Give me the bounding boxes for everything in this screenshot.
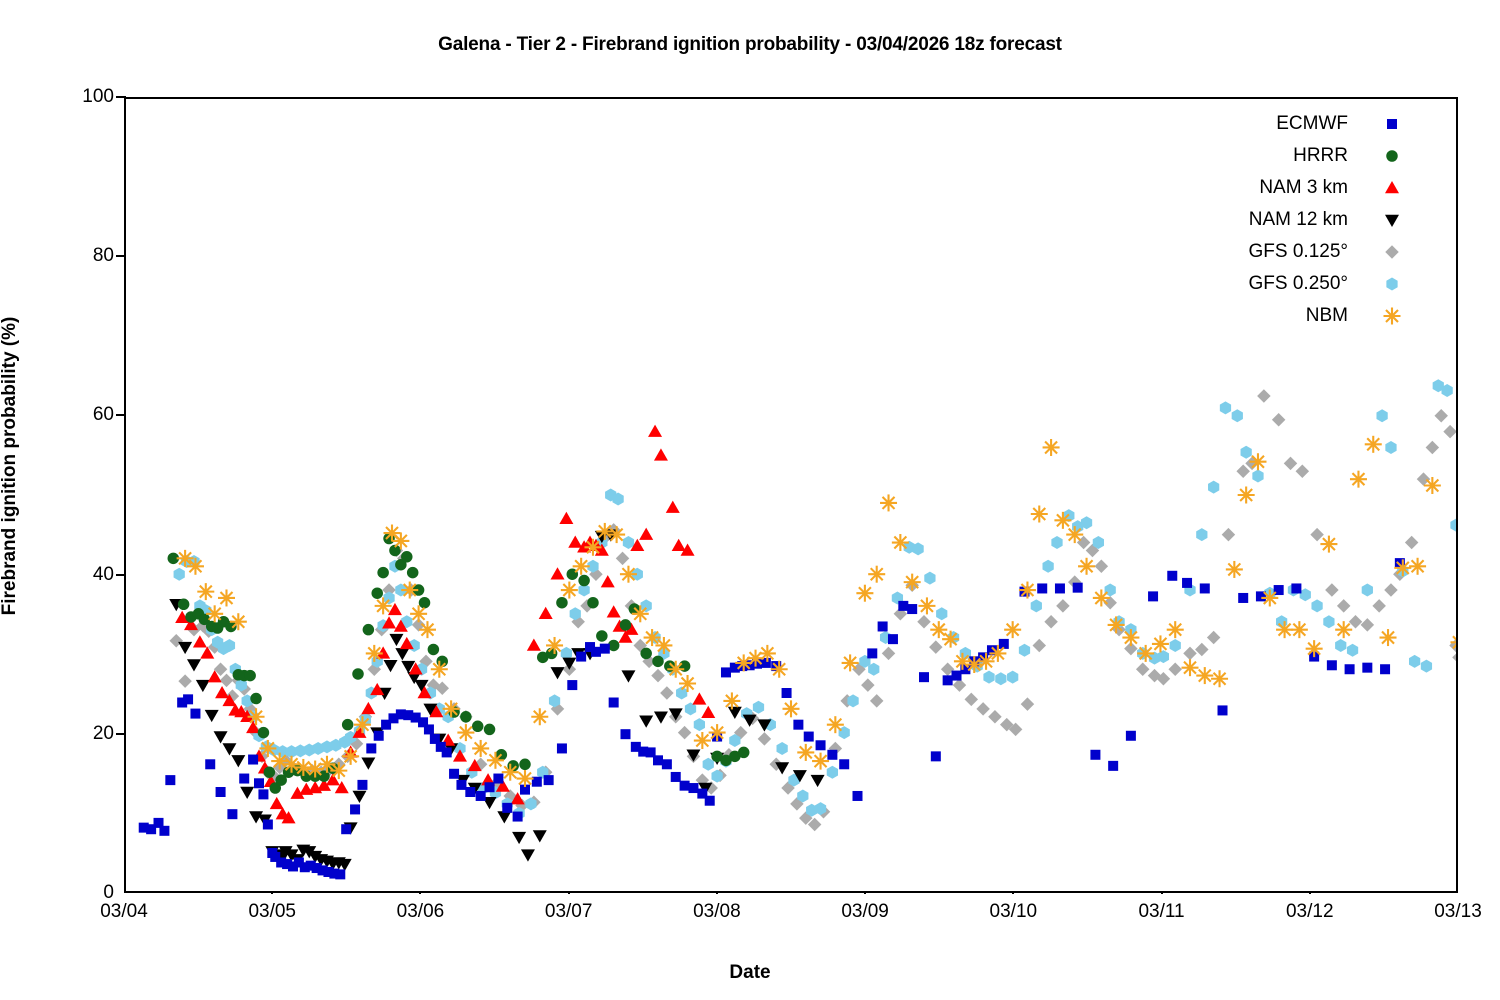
data-point	[196, 680, 210, 692]
data-point	[449, 769, 459, 779]
data-point	[551, 667, 565, 679]
data-point	[1362, 584, 1373, 597]
legend-item-gfs-0-250[interactable]: GFS 0.250°	[1180, 268, 1402, 300]
data-point	[472, 740, 489, 757]
data-point	[1095, 560, 1109, 574]
data-point	[1291, 621, 1308, 638]
data-point	[1257, 389, 1271, 403]
orange-asterisk-marker-icon	[1382, 306, 1402, 326]
data-point	[1108, 761, 1118, 771]
data-point	[936, 607, 947, 620]
data-point	[258, 789, 268, 799]
data-point	[667, 661, 684, 678]
data-point	[584, 539, 601, 556]
data-point	[1376, 409, 1387, 422]
data-point	[995, 672, 1006, 685]
data-point	[544, 775, 554, 785]
data-point	[407, 567, 419, 579]
data-point	[607, 605, 621, 617]
legend-item-nbm[interactable]: NBM	[1180, 300, 1402, 332]
data-point	[1043, 439, 1060, 456]
data-point	[377, 567, 389, 579]
data-point	[652, 656, 664, 668]
data-point	[546, 637, 563, 654]
legend-label: NBM	[1306, 305, 1382, 327]
data-point	[1350, 471, 1367, 488]
data-point	[330, 762, 347, 779]
data-point	[639, 528, 653, 540]
data-point	[374, 731, 384, 741]
data-point	[1452, 651, 1456, 665]
data-point	[502, 803, 512, 813]
data-point	[354, 716, 371, 733]
data-point	[1090, 750, 1100, 760]
data-point	[793, 720, 803, 730]
data-point	[1424, 477, 1441, 494]
data-point	[1361, 618, 1375, 632]
data-point	[1170, 639, 1181, 652]
data-point	[1241, 446, 1252, 459]
x-tick-label-03-12: 03/12	[1250, 901, 1370, 923]
data-point	[350, 804, 360, 814]
data-point	[1220, 401, 1231, 414]
x-axis-label: Date	[0, 962, 1500, 984]
data-point	[1168, 662, 1182, 676]
data-point	[214, 731, 228, 743]
data-point	[1211, 670, 1228, 687]
data-point	[701, 706, 715, 718]
data-point	[1031, 599, 1042, 612]
data-point	[205, 759, 215, 769]
data-point	[174, 568, 185, 581]
data-point	[672, 539, 686, 551]
data-point	[1051, 536, 1062, 549]
data-point	[1296, 464, 1310, 478]
data-point	[1337, 599, 1351, 613]
data-point	[271, 753, 288, 770]
data-point	[1222, 528, 1236, 542]
data-point	[1136, 662, 1150, 676]
data-point	[688, 783, 698, 793]
data-point	[424, 724, 434, 734]
data-point	[1196, 667, 1213, 684]
data-point	[1073, 583, 1083, 593]
data-point	[966, 656, 983, 673]
data-point	[384, 660, 398, 672]
data-point	[1152, 635, 1169, 652]
chart-page: Galena - Tier 2 - Firebrand ignition pro…	[0, 0, 1500, 1000]
data-point	[839, 759, 849, 769]
x-tick-label-03-08: 03/08	[657, 901, 777, 923]
data-point	[771, 661, 788, 678]
data-point	[655, 637, 672, 654]
x-tick-label-03-05: 03/05	[212, 901, 332, 923]
data-point	[930, 621, 947, 638]
data-point	[1385, 441, 1396, 454]
data-point	[1232, 409, 1243, 422]
data-point	[827, 716, 844, 733]
data-point	[1021, 697, 1035, 711]
data-point	[361, 702, 375, 714]
data-point	[539, 607, 553, 619]
data-point	[1261, 589, 1278, 606]
data-point	[1252, 469, 1263, 482]
data-point	[978, 653, 995, 670]
data-point	[556, 597, 568, 609]
data-point	[632, 605, 649, 622]
data-point	[295, 759, 312, 776]
data-point	[1019, 644, 1030, 657]
data-point	[187, 659, 201, 671]
data-point	[880, 494, 897, 511]
data-point	[1208, 481, 1219, 494]
data-point	[804, 732, 814, 742]
data-point	[1043, 560, 1054, 573]
data-point	[639, 715, 653, 727]
series-nbm	[177, 436, 1456, 787]
data-point	[227, 809, 237, 819]
data-point	[1362, 663, 1372, 673]
data-point	[465, 787, 475, 797]
data-point	[388, 603, 402, 615]
data-point	[1078, 558, 1095, 575]
x-tick-label-03-07: 03/07	[509, 901, 629, 923]
data-point	[342, 748, 359, 765]
data-point	[870, 694, 884, 708]
data-point	[573, 558, 590, 575]
data-point	[1108, 616, 1125, 633]
lightblue-hexagon-marker-icon	[1382, 274, 1402, 294]
data-point	[1380, 664, 1390, 674]
legend-label: GFS 0.125°	[1249, 241, 1382, 263]
y-tick-label-20: 20	[34, 723, 114, 745]
data-point	[1019, 582, 1036, 599]
data-point	[239, 774, 249, 784]
data-point	[1434, 409, 1448, 423]
data-point	[1284, 457, 1298, 471]
data-point	[244, 670, 256, 682]
data-point	[620, 729, 630, 739]
data-point	[197, 583, 214, 600]
data-point	[519, 759, 531, 771]
data-point	[943, 675, 953, 685]
data-point	[759, 645, 776, 662]
data-point	[907, 604, 917, 614]
x-tick-label-03-04: 03/04	[64, 901, 184, 923]
data-point	[924, 572, 935, 585]
data-point	[1167, 571, 1177, 581]
data-point	[551, 567, 565, 579]
data-point	[654, 712, 668, 724]
y-tick-label-40: 40	[34, 564, 114, 586]
data-point	[1148, 591, 1158, 601]
data-point	[640, 648, 652, 660]
data-point	[431, 661, 448, 678]
data-point	[917, 615, 931, 629]
data-point	[401, 551, 413, 563]
data-point	[976, 702, 990, 716]
data-point	[460, 711, 472, 723]
data-point	[254, 778, 264, 788]
data-point	[248, 755, 258, 765]
data-point	[258, 727, 270, 739]
data-point	[988, 710, 1002, 724]
x-tick-label-03-10: 03/10	[953, 901, 1073, 923]
data-point	[758, 732, 772, 746]
data-point	[401, 582, 418, 599]
data-point	[738, 747, 750, 759]
data-point	[1325, 583, 1339, 597]
data-point	[1093, 589, 1110, 606]
data-point	[777, 742, 788, 755]
data-point	[1236, 464, 1250, 478]
page-title: Galena - Tier 2 - Firebrand ignition pro…	[0, 34, 1500, 56]
data-point	[728, 707, 742, 719]
data-point	[1405, 536, 1419, 550]
data-point	[703, 758, 714, 771]
data-point	[283, 756, 300, 773]
data-point	[220, 674, 234, 688]
data-point	[428, 644, 440, 656]
data-point	[1323, 615, 1334, 628]
data-point	[1183, 647, 1197, 661]
data-point	[363, 624, 375, 636]
green-circle-marker-icon	[1382, 146, 1402, 166]
data-point	[517, 770, 534, 787]
data-point	[576, 652, 586, 662]
data-point	[1249, 453, 1266, 470]
legend-item-hrrr[interactable]: HRRR	[1180, 140, 1402, 172]
data-point	[1200, 583, 1210, 593]
data-point	[578, 575, 590, 587]
data-point	[559, 512, 573, 524]
chart-legend: ECMWFHRRRNAM 3 kmNAM 12 kmGFS 0.125°GFS …	[1180, 108, 1402, 332]
data-point	[531, 708, 548, 725]
data-point	[259, 740, 276, 757]
data-point	[892, 534, 909, 551]
data-point	[263, 819, 273, 829]
data-point	[318, 770, 330, 782]
data-point	[357, 780, 367, 790]
data-point	[878, 621, 888, 631]
data-point	[705, 796, 715, 806]
data-point	[1182, 659, 1199, 676]
data-point	[1105, 584, 1116, 597]
data-point	[183, 694, 193, 704]
data-point	[888, 634, 898, 644]
data-point	[1054, 512, 1071, 529]
data-point	[660, 686, 674, 700]
data-point	[366, 743, 376, 753]
data-point	[856, 585, 873, 602]
legend-item-nam-12-km[interactable]: NAM 12 km	[1180, 204, 1402, 236]
data-point	[620, 619, 632, 631]
x-tick-label-03-11: 03/11	[1102, 901, 1222, 923]
legend-item-nam-3-km[interactable]: NAM 3 km	[1180, 172, 1402, 204]
data-point	[395, 648, 409, 660]
data-point	[616, 552, 630, 566]
data-point	[513, 812, 523, 822]
data-point	[485, 782, 495, 792]
data-point	[1327, 660, 1337, 670]
data-point	[1310, 528, 1324, 542]
blue-square-marker-icon	[1382, 114, 1402, 134]
data-point	[1182, 578, 1192, 588]
data-point	[1272, 413, 1286, 427]
data-point	[456, 780, 466, 790]
data-point	[1365, 436, 1382, 453]
data-point	[442, 747, 452, 757]
data-point	[1137, 645, 1154, 662]
data-point	[1126, 731, 1136, 741]
data-point	[983, 671, 994, 684]
data-point	[193, 635, 207, 647]
data-point	[264, 766, 276, 778]
data-point	[218, 589, 235, 606]
data-point	[653, 755, 663, 765]
data-point	[596, 630, 608, 642]
data-point	[472, 721, 484, 733]
data-point	[341, 824, 351, 834]
y-tick-label-60: 60	[34, 404, 114, 426]
data-point	[557, 743, 567, 753]
data-point	[827, 750, 837, 760]
data-point	[1122, 629, 1139, 646]
data-point	[502, 764, 519, 781]
data-point	[1196, 528, 1207, 541]
data-point	[215, 686, 229, 698]
data-point	[1226, 561, 1243, 578]
data-point	[753, 701, 764, 714]
data-point	[476, 791, 486, 801]
data-point	[335, 869, 345, 879]
data-point	[904, 574, 921, 591]
legend-item-gfs-0-125[interactable]: GFS 0.125°	[1180, 236, 1402, 268]
data-point	[487, 752, 504, 769]
data-point	[457, 724, 474, 741]
data-point	[648, 425, 662, 437]
data-point	[679, 675, 696, 692]
data-point	[662, 759, 672, 769]
data-point	[1195, 643, 1209, 657]
data-point	[591, 647, 601, 657]
data-point	[671, 772, 681, 782]
data-point	[816, 740, 826, 750]
y-axis-label: Firebrand ignition probability (%)	[0, 66, 21, 866]
data-point	[898, 601, 908, 611]
data-point	[694, 718, 705, 731]
data-point	[231, 755, 245, 767]
data-point	[1291, 583, 1301, 593]
data-point	[1031, 506, 1048, 523]
data-point	[1218, 705, 1228, 715]
data-point	[375, 597, 392, 614]
data-point	[839, 726, 850, 739]
data-point	[419, 621, 436, 638]
data-point	[587, 597, 599, 609]
data-point	[600, 644, 610, 654]
y-tick-label-80: 80	[34, 245, 114, 267]
data-point	[782, 688, 792, 698]
data-point	[644, 629, 661, 646]
data-point	[361, 757, 375, 769]
data-point	[651, 669, 665, 683]
data-point	[1347, 644, 1358, 657]
data-point	[623, 536, 634, 549]
data-point	[178, 599, 190, 611]
data-point	[1055, 583, 1065, 593]
data-point	[861, 678, 875, 692]
data-point	[392, 532, 409, 549]
data-point	[443, 700, 460, 717]
data-point	[484, 724, 496, 736]
data-point	[1421, 660, 1432, 673]
data-point	[248, 708, 265, 725]
data-point	[177, 550, 194, 567]
x-tick-label-03-06: 03/06	[360, 901, 480, 923]
data-point	[1384, 583, 1398, 597]
data-point	[694, 732, 711, 749]
data-point	[965, 693, 979, 707]
data-point	[783, 700, 800, 717]
data-point	[410, 605, 427, 622]
data-point	[1276, 621, 1293, 638]
data-point	[1409, 558, 1426, 575]
data-point	[1167, 621, 1184, 638]
data-point	[567, 680, 577, 690]
data-point	[389, 634, 403, 646]
data-point	[371, 587, 383, 599]
data-point	[342, 719, 354, 731]
legend-item-ecmwf[interactable]: ECMWF	[1180, 108, 1402, 140]
data-point	[493, 774, 503, 784]
data-point	[666, 501, 680, 513]
legend-label: ECMWF	[1276, 113, 1382, 135]
legend-label: NAM 3 km	[1259, 177, 1382, 199]
data-point	[609, 698, 619, 708]
data-point	[1238, 487, 1255, 504]
data-point	[222, 743, 236, 755]
data-point	[867, 648, 877, 658]
data-point	[954, 653, 971, 670]
data-point	[811, 775, 825, 787]
data-point	[882, 647, 896, 661]
data-point	[178, 642, 192, 654]
data-point	[1443, 425, 1456, 439]
data-point	[1380, 629, 1397, 646]
data-point	[230, 613, 247, 630]
data-point	[190, 709, 200, 719]
data-point	[1320, 536, 1337, 553]
data-point	[678, 726, 692, 740]
data-point	[1335, 639, 1346, 652]
data-point	[216, 787, 226, 797]
data-point	[1207, 631, 1221, 645]
data-point	[1056, 599, 1070, 613]
y-tick-label-100: 100	[34, 86, 114, 108]
data-point	[621, 670, 635, 682]
data-point	[187, 558, 204, 575]
data-point	[952, 671, 962, 681]
data-point	[692, 692, 706, 704]
data-point	[596, 523, 613, 540]
data-point	[159, 826, 169, 836]
x-tick-label-03-13: 03/13	[1398, 901, 1500, 923]
data-point	[366, 645, 383, 662]
data-point	[989, 645, 1006, 662]
data-point	[1394, 559, 1411, 576]
data-point	[654, 448, 668, 460]
